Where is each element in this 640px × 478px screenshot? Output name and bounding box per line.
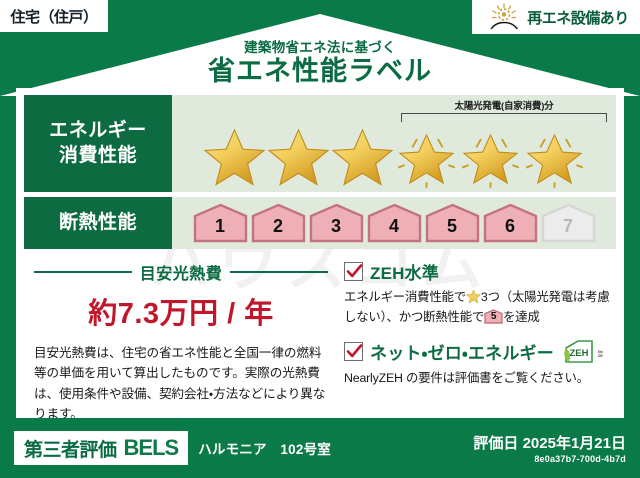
- star-icon: [331, 127, 394, 188]
- energy-performance-label: 建築物省エネ法に基づく 省エネ性能ラベル 住宅（住戸） 再エネ設備あり ハウスコ…: [0, 0, 640, 478]
- insulation-level-chip: 2: [251, 203, 306, 243]
- third-party-eval-label: 第三者評価: [24, 435, 117, 462]
- building-name: ハルモニア 102号室: [198, 438, 331, 458]
- insulation-level-chip: 6: [483, 203, 538, 243]
- house-icon: [193, 203, 248, 243]
- star-icon-solar: [395, 127, 458, 188]
- zeh-body-suffix: を達成: [503, 310, 540, 324]
- insulation-level-chip: 5: [425, 203, 480, 243]
- star-icon: [466, 289, 481, 304]
- label-title: 省エネ性能ラベル: [0, 57, 640, 85]
- energy-label-line2: 消費性能: [59, 144, 137, 168]
- inline-house-icon: 5: [484, 309, 503, 324]
- zeh-standard-checkbox: [344, 262, 363, 281]
- claims-section: ZEH水準 エネルギー消費性能で3つ（太陽光発電は考慮しない）、かつ断熱性能で5…: [334, 258, 616, 418]
- house-icon: [425, 203, 480, 243]
- net-zero-energy-checkbox: [344, 342, 363, 361]
- star-icon: [203, 127, 266, 188]
- main-panel: ハウスコム エネルギー 消費性能 太陽光発電(自家消費)分: [16, 88, 624, 418]
- insulation-level-scale: 1 2 3 4 5: [172, 197, 616, 249]
- renewable-energy-label: 再エネ設備あり: [527, 7, 629, 28]
- energy-label-line1: エネルギー: [49, 119, 147, 143]
- svg-text:ZEH: ZEH: [598, 354, 603, 358]
- utility-cost-title: 目安光熱費: [140, 260, 223, 284]
- energy-performance-label-box: エネルギー 消費性能: [24, 95, 172, 192]
- bels-badge: 第三者評価 BELS: [14, 431, 188, 465]
- rule-left: [34, 271, 132, 273]
- housing-type-badge: 住宅（住戸）: [0, 0, 108, 32]
- insulation-level-chip: 4: [367, 203, 422, 243]
- evaluation-id: 8e0a37b7-700d-4b7d: [473, 454, 626, 464]
- evaluation-info: 評価日 2025年1月21日 8e0a37b7-700d-4b7d: [473, 432, 626, 464]
- rule-right: [230, 271, 328, 273]
- svg-text:ZEH: ZEH: [569, 348, 588, 359]
- star-icon-solar: [459, 127, 522, 188]
- zeh-logo-icon: ZEH Nearly ZEH: [561, 339, 603, 365]
- net-zero-energy-heading: ネット・ゼロ・エネルギー ZEH Nearly ZEH: [344, 339, 612, 365]
- utility-cost-section: 目安光熱費 約7.3万円 / 年 目安光熱費は、住宅の省エネ性能と全国一律の燃料…: [24, 258, 334, 418]
- star-rating: [172, 127, 616, 188]
- energy-performance-row: エネルギー 消費性能 太陽光発電(自家消費)分: [24, 95, 616, 192]
- net-zero-energy-claim: ネット・ゼロ・エネルギー ZEH Nearly ZEH NearlyZEH の要…: [344, 339, 612, 389]
- star-icon-solar: [523, 127, 586, 188]
- sun-icon: [489, 3, 521, 31]
- utility-cost-amount: 約7.3万円 / 年: [34, 290, 328, 332]
- house-icon: [483, 203, 538, 243]
- insulation-label: 断熱性能: [59, 211, 137, 235]
- zeh-body-prefix: エネルギー消費性能で: [344, 290, 466, 304]
- zeh-standard-title: ZEH水準: [370, 259, 439, 284]
- house-icon: [367, 203, 422, 243]
- solar-share-label: 太陽光発電(自家消費)分: [401, 98, 607, 112]
- bels-logo-text: BELS: [124, 435, 179, 461]
- utility-cost-heading: 目安光熱費: [34, 260, 328, 284]
- label-subtitle: 建築物省エネ法に基づく: [0, 36, 640, 56]
- bracket-line: [401, 113, 607, 122]
- insulation-level-chip-inactive: 7: [541, 203, 596, 243]
- net-zero-energy-title: ネット・ゼロ・エネルギー: [370, 339, 554, 364]
- housing-type-label: 住宅（住戸）: [10, 6, 97, 27]
- lower-section: 目安光熱費 約7.3万円 / 年 目安光熱費は、住宅の省エネ性能と全国一律の燃料…: [24, 258, 616, 418]
- solar-share-bracket: 太陽光発電(自家消費)分: [401, 98, 607, 122]
- energy-rating-area: 太陽光発電(自家消費)分: [172, 95, 616, 192]
- utility-cost-note: 目安光熱費は、住宅の省エネ性能と全国一律の燃料等の単価を用いて算出したものです。…: [34, 343, 328, 418]
- insulation-performance-row: 断熱性能 1 2 3: [24, 197, 616, 249]
- net-zero-energy-body: NearlyZEH の要件は評価書をご覧ください。: [344, 369, 612, 389]
- zeh-standard-body: エネルギー消費性能で3つ（太陽光発電は考慮しない）、かつ断熱性能で5を達成: [344, 288, 612, 328]
- insulation-level-chip: 3: [309, 203, 364, 243]
- zeh-standard-claim: ZEH水準 エネルギー消費性能で3つ（太陽光発電は考慮しない）、かつ断熱性能で5…: [344, 259, 612, 328]
- evaluation-date: 評価日 2025年1月21日: [473, 432, 626, 453]
- label-title-block: 建築物省エネ法に基づく 省エネ性能ラベル: [0, 36, 640, 85]
- insulation-performance-label-box: 断熱性能: [24, 197, 172, 249]
- house-icon: [541, 203, 596, 243]
- check-icon: [346, 343, 363, 360]
- footer-bar: 第三者評価 BELS ハルモニア 102号室 評価日 2025年1月21日 8e…: [0, 418, 640, 478]
- inline-house-level: 5: [484, 309, 503, 324]
- check-icon: [346, 263, 363, 280]
- house-icon: [251, 203, 306, 243]
- house-icon: [309, 203, 364, 243]
- renewable-energy-badge: 再エネ設備あり: [472, 0, 640, 34]
- star-icon: [267, 127, 330, 188]
- insulation-rating-area: 1 2 3 4 5: [172, 197, 616, 249]
- zeh-standard-heading: ZEH水準: [344, 259, 612, 284]
- insulation-level-chip: 1: [193, 203, 248, 243]
